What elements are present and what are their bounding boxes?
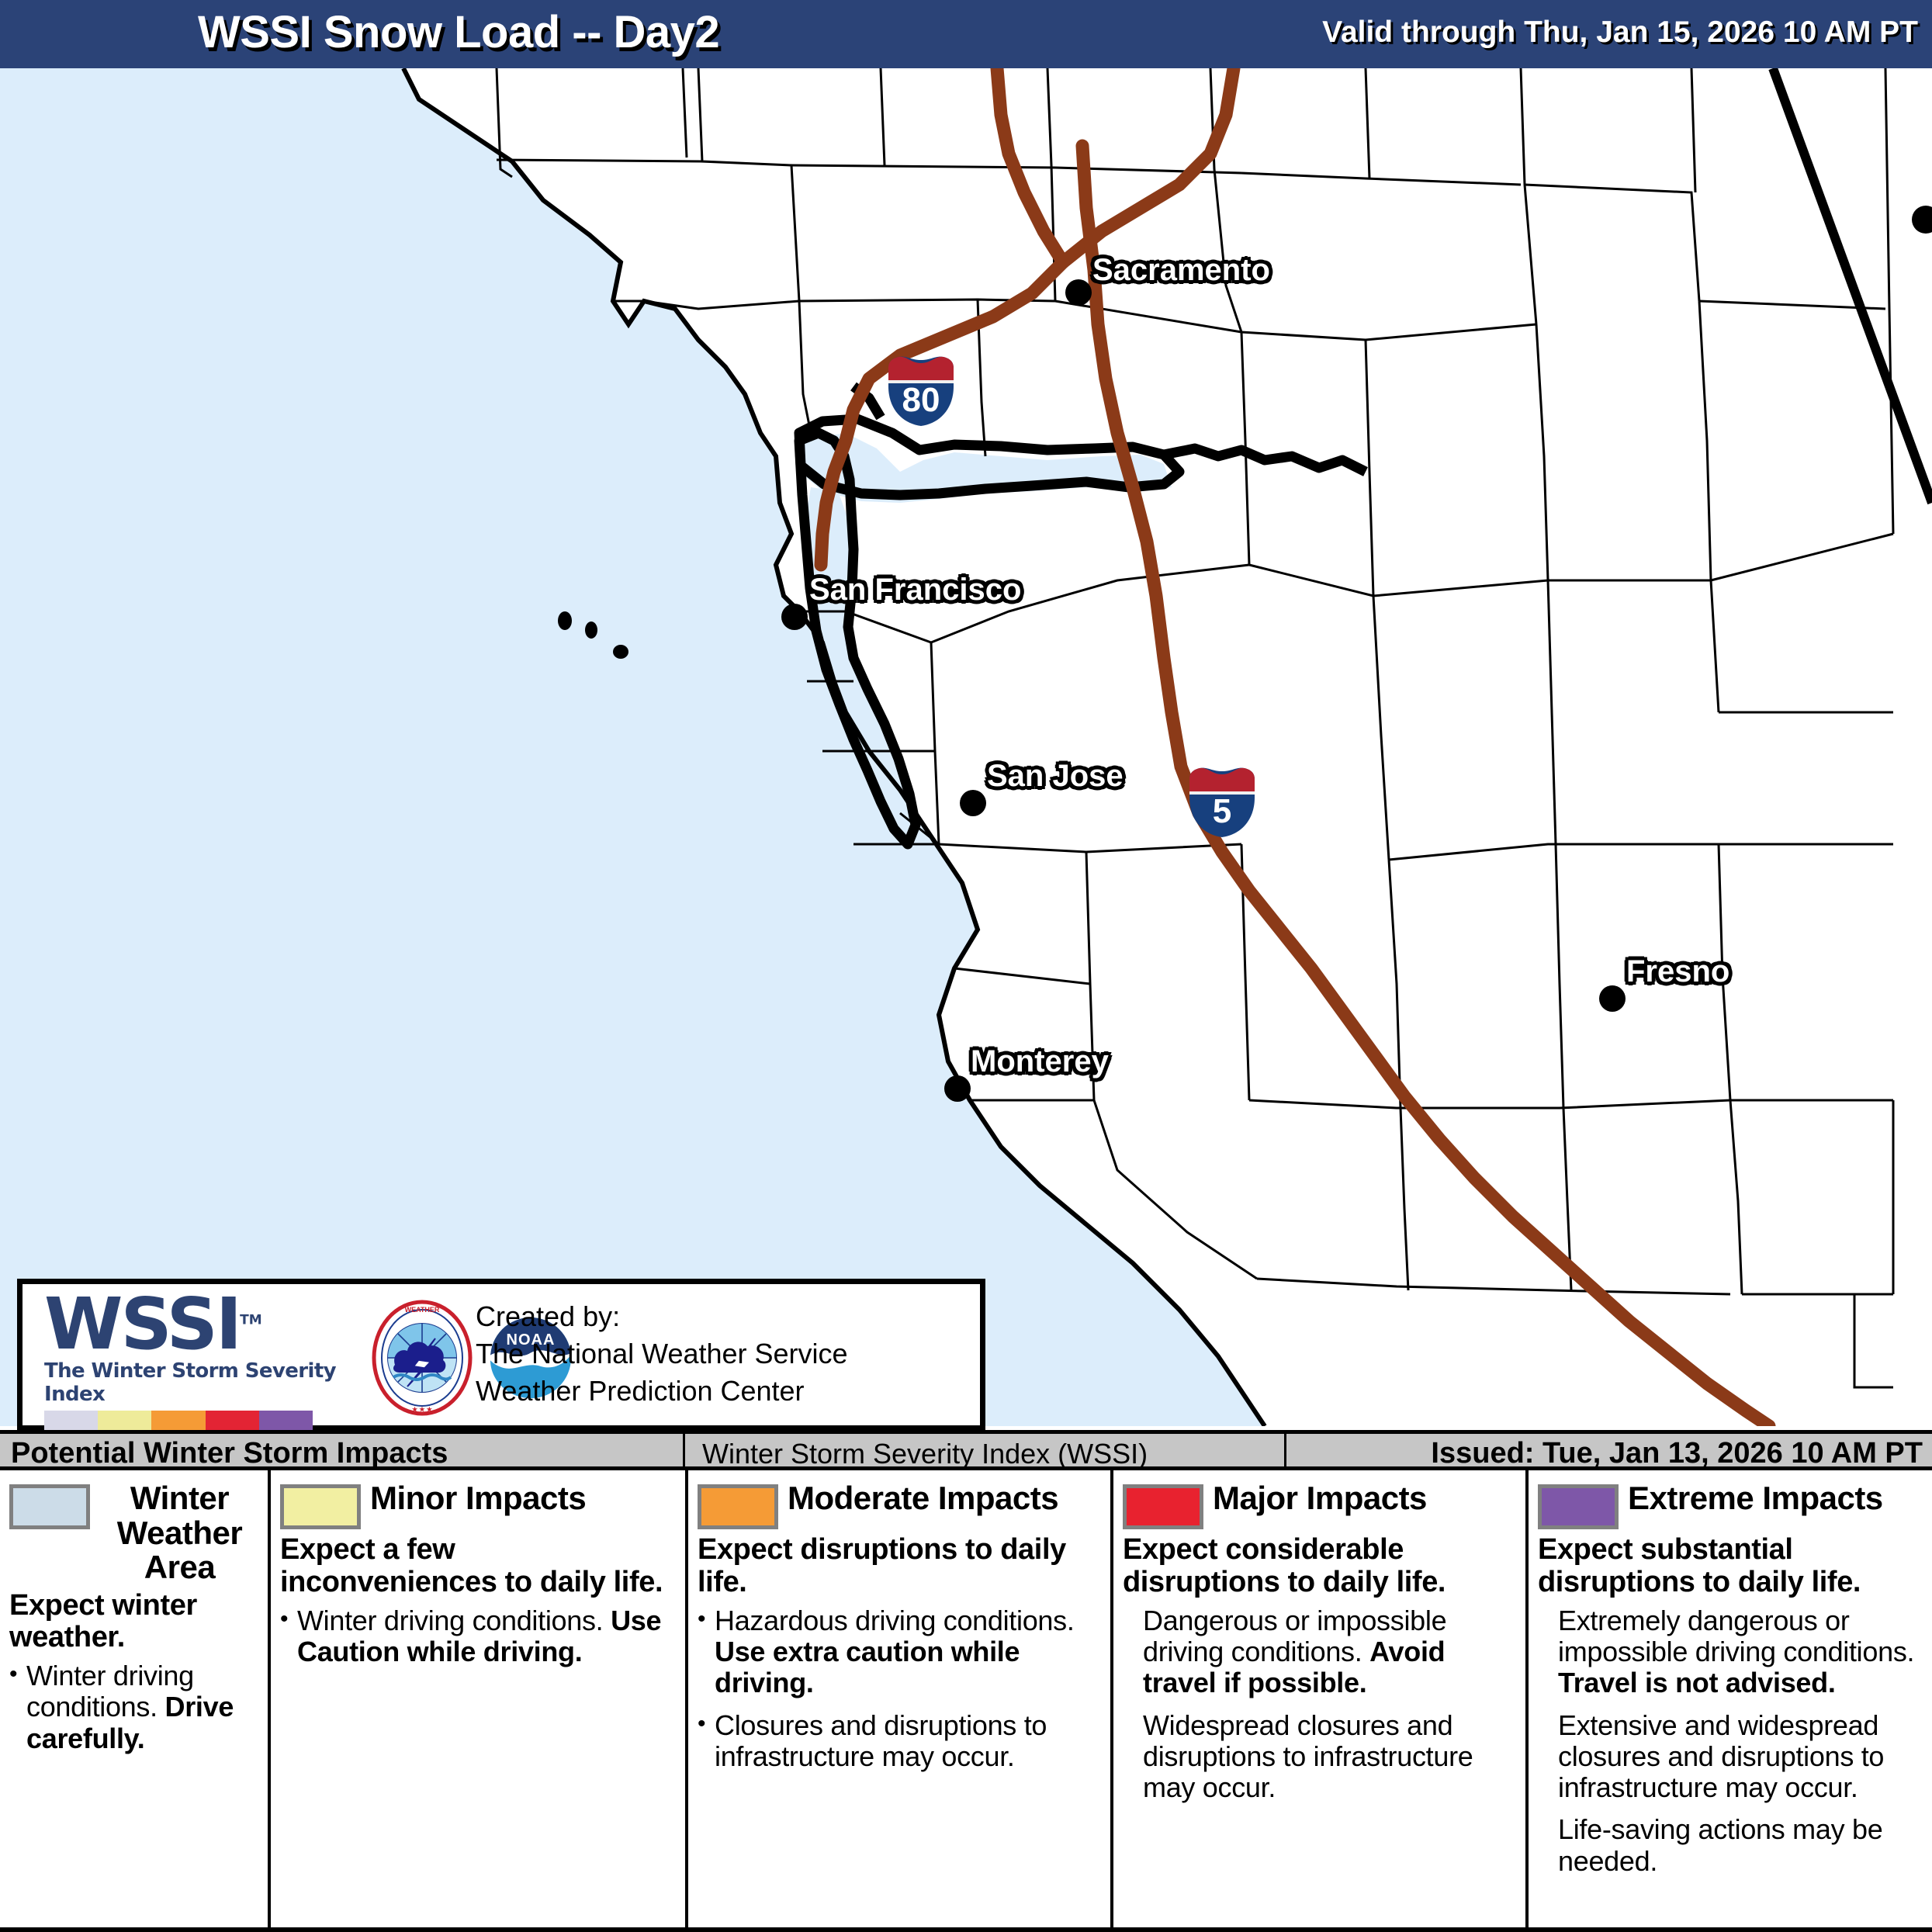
wssi-wordmark: WSSITM [44,1290,355,1358]
legend-bullet-text: Extremely dangerous or impossible drivin… [1558,1605,1924,1699]
page-title: WSSI Snow Load -- Day2 [198,6,719,58]
legend-bullet-text: Widespread closures and disruptions to i… [1143,1710,1518,1804]
created-by-line-2: The National Weather Service [476,1335,848,1373]
legend-bullet-list: •Winter driving conditions. Use Caution … [280,1605,677,1668]
impacts-header-title: Potential Winter Storm Impacts [11,1437,448,1470]
city-label-san-jose: San Jose [987,759,1124,794]
legend-header: Moderate Impacts [698,1481,1103,1529]
valid-through-label: Valid through Thu, Jan 15, 2026 10 AM PT [1322,16,1918,50]
legend-summary: Expect disruptions to daily life. [698,1534,1103,1599]
legend-bullet-text: Winter driving conditions. Use Caution w… [297,1605,677,1668]
legend-bullet: •Life-saving actions may be needed. [1538,1814,1924,1877]
legend-bullet: •Extremely dangerous or impossible drivi… [1538,1605,1924,1699]
city-label-monterey: Monterey [971,1044,1109,1079]
legend-bullet-list: •Extremely dangerous or impossible drivi… [1538,1605,1924,1878]
legend-bullet-list: •Hazardous driving conditions. Use extra… [698,1605,1103,1773]
legend-column-extreme-impacts: Extreme ImpactsExpect substantial disrup… [1525,1470,1932,1927]
issued-label: Issued: Tue, Jan 13, 2026 10 AM PT [1431,1437,1923,1470]
city-label-sacramento: Sacramento [1092,253,1270,288]
legend-bullet-text: Hazardous driving conditions. Use extra … [715,1605,1103,1699]
bullet-dot-icon: • [9,1660,26,1754]
attribution-box: WSSITM The Winter Storm Severity Index W… [17,1279,985,1431]
city-dot-san-jose [960,790,986,816]
wssi-tagline: The Winter Storm Severity Index [44,1359,355,1406]
svg-text:5: 5 [1213,792,1231,830]
legend-bullet-text: Extensive and widespread closures and di… [1558,1710,1924,1804]
interstate-5-shield: 5 [1186,765,1259,840]
legend-bullet-text: Dangerous or impossible driving conditio… [1143,1605,1518,1699]
legend-bullet-text: Winter driving conditions. Drive careful… [26,1660,260,1754]
legend-column-major-impacts: Major ImpactsExpect considerable disrupt… [1110,1470,1525,1927]
impacts-header-bar: Potential Winter Storm Impacts Winter St… [0,1430,1932,1470]
impacts-header-subtitle: Winter Storm Severity Index (WSSI) [702,1438,1148,1470]
legend-bullet: •Hazardous driving conditions. Use extra… [698,1605,1103,1699]
legend-column-moderate-impacts: Moderate ImpactsExpect disruptions to da… [685,1470,1110,1927]
legend-category-name: Moderate Impacts [788,1481,1058,1516]
title-bar: WSSI Snow Load -- Day2 Valid through Thu… [0,0,1932,68]
svg-text:★ ★ ★: ★ ★ ★ [412,1406,433,1413]
legend-category-name: Minor Impacts [370,1481,586,1516]
legend-bullet: •Closures and disruptions to infrastruct… [698,1710,1103,1773]
legend-swatch [698,1484,778,1529]
legend-header: Minor Impacts [280,1481,677,1529]
map-vector-layer [0,68,1932,1426]
legend-bullet: •Winter driving conditions. Use Caution … [280,1605,677,1668]
city-label-san-francisco: San Francisco [809,573,1021,608]
wssi-snow-load-map-page: WSSI Snow Load -- Day2 Valid through Thu… [0,0,1932,1932]
map-canvas[interactable]: 80 5 SacramentoSan FranciscoSan JoseFres… [0,68,1932,1426]
legend-swatch [280,1484,361,1529]
legend-category-name: Winter Weather Area [99,1481,260,1585]
city-dot-san-francisco [781,604,808,630]
legend-bullet-text: Life-saving actions may be needed. [1558,1814,1924,1877]
legend-header: Winter Weather Area [9,1481,260,1585]
city-dot-sacramento [1065,279,1092,306]
interstate-80-shield: 80 [885,354,957,428]
city-label-fresno: Fresno [1626,954,1729,989]
bullet-dot-icon: • [280,1605,297,1668]
legend-header: Extreme Impacts [1538,1481,1924,1529]
wssi-logo: WSSITM The Winter Storm Severity Index [44,1290,355,1434]
header-divider-right [1284,1434,1286,1466]
legend-summary: Expect considerable disruptions to daily… [1123,1534,1518,1599]
legend-bullet: •Widespread closures and disruptions to … [1123,1710,1518,1804]
svg-text:WEATHER: WEATHER [405,1306,440,1314]
legend-summary: Expect substantial disruptions to daily … [1538,1534,1924,1599]
legend-bullet-list: •Dangerous or impossible driving conditi… [1123,1605,1518,1804]
legend-summary: Expect a few inconveniences to daily lif… [280,1534,677,1599]
bullet-dot-icon: • [698,1605,715,1699]
legend-bullet-text: Closures and disruptions to infrastructu… [715,1710,1103,1773]
legend-column-minor-impacts: Minor ImpactsExpect a few inconveniences… [268,1470,685,1927]
created-by-line-1: Created by: [476,1298,848,1335]
national-weather-service-seal: WEATHER ★ ★ ★ [364,1300,480,1416]
legend-swatch [1123,1484,1203,1529]
legend-bullet: •Extensive and widespread closures and d… [1538,1710,1924,1804]
legend-header: Major Impacts [1123,1481,1518,1529]
trademark-mark: TM [240,1312,262,1328]
created-by-block: Created by: The National Weather Service… [476,1298,848,1411]
legend-category-name: Major Impacts [1213,1481,1427,1516]
legend-category-name: Extreme Impacts [1628,1481,1883,1516]
city-dot-fresno [1599,985,1626,1012]
legend-bullet: •Winter driving conditions. Drive carefu… [9,1660,260,1754]
legend-bullet: •Dangerous or impossible driving conditi… [1123,1605,1518,1699]
city-dot-monterey [944,1075,971,1102]
header-divider-left [683,1434,685,1466]
created-by-line-3: Weather Prediction Center [476,1373,848,1410]
svg-text:80: 80 [902,381,940,419]
bullet-dot-icon: • [698,1710,715,1773]
legend-column-winter-weather-area: Winter Weather AreaExpect winter weather… [0,1470,268,1927]
legend-bullet-list: •Winter driving conditions. Drive carefu… [9,1660,260,1754]
legend-swatch [1538,1484,1619,1529]
legend-swatch [9,1484,90,1529]
legend-summary: Expect winter weather. [9,1590,260,1655]
impacts-legend: Winter Weather AreaExpect winter weather… [0,1470,1932,1932]
